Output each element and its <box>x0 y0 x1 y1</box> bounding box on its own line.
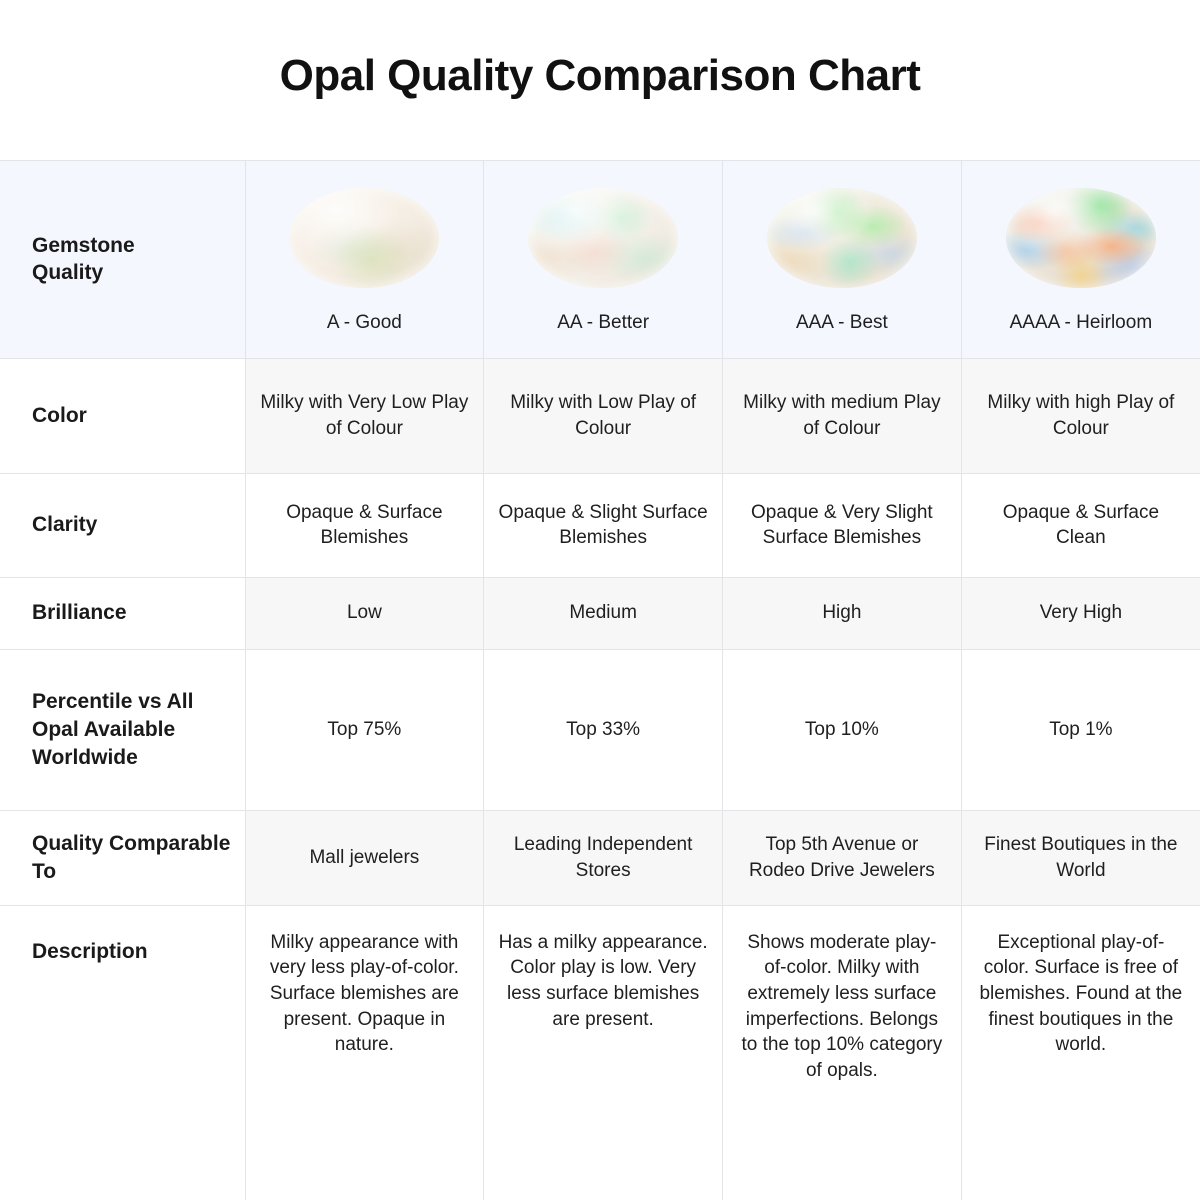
grade-label-a: A - Good <box>327 310 402 336</box>
cell-clarity-a: Opaque & Surface Blemishes <box>245 473 484 577</box>
row-label-color: Color <box>0 358 245 473</box>
cell-quality-comparable-aaaa: Finest Boutiques in the World <box>961 810 1200 905</box>
header-cell-aaaa: AAAA - Heirloom <box>961 160 1200 358</box>
header-label-line-1: Gemstone <box>32 234 135 257</box>
cell-brilliance-aaaa: Very High <box>961 577 1200 649</box>
cell-brilliance-a: Low <box>245 577 484 649</box>
row-label-percentile-text: Percentile vs All Opal Available Worldwi… <box>32 690 193 768</box>
cell-clarity-aa: Opaque & Slight Surface Blemishes <box>484 473 723 577</box>
page-title: Opal Quality Comparison Chart <box>0 0 1200 103</box>
cell-description-aaa: Shows moderate play-of-color. Milky with… <box>723 905 962 1200</box>
grade-label-aa: AA - Better <box>557 310 649 336</box>
cell-clarity-aaaa: Opaque & Surface Clean <box>961 473 1200 577</box>
opal-quality-comparison-table: Gemstone Quality A - Good AA - Better <box>0 160 1200 1200</box>
table-header-row: Gemstone Quality A - Good AA - Better <box>0 160 1200 358</box>
header-label-gemstone-quality: Gemstone Quality <box>0 160 245 358</box>
table-row-brilliance: Brilliance Low Medium High Very High <box>0 577 1200 649</box>
cell-percentile-aa: Top 33% <box>484 649 723 810</box>
table-row-description: Description Milky appearance with very l… <box>0 905 1200 1200</box>
grade-label-aaaa: AAAA - Heirloom <box>1010 310 1153 336</box>
table-row-quality-comparable: Quality Comparable To Mall jewelers Lead… <box>0 810 1200 905</box>
table-row-percentile: Percentile vs All Opal Available Worldwi… <box>0 649 1200 810</box>
row-label-brilliance: Brilliance <box>0 577 245 649</box>
cell-color-a: Milky with Very Low Play of Colour <box>245 358 484 473</box>
cell-percentile-a: Top 75% <box>245 649 484 810</box>
table-row-clarity: Clarity Opaque & Surface Blemishes Opaqu… <box>0 473 1200 577</box>
table-row-color: Color Milky with Very Low Play of Colour… <box>0 358 1200 473</box>
opal-gem-aaaa-icon <box>1006 188 1156 288</box>
cell-percentile-aaaa: Top 1% <box>961 649 1200 810</box>
row-label-clarity: Clarity <box>0 473 245 577</box>
row-label-percentile: Percentile vs All Opal Available Worldwi… <box>0 649 245 810</box>
opal-gem-aa-icon <box>528 188 678 288</box>
header-label-line-2: Quality <box>32 261 103 284</box>
header-cell-aa: AA - Better <box>484 160 723 358</box>
cell-description-aaaa: Exceptional play-of-color. Surface is fr… <box>961 905 1200 1200</box>
cell-brilliance-aa: Medium <box>484 577 723 649</box>
cell-color-aaaa: Milky with high Play of Colour <box>961 358 1200 473</box>
opal-gem-aaa-icon <box>767 188 917 288</box>
cell-clarity-aaa: Opaque & Very Slight Surface Blemishes <box>723 473 962 577</box>
opal-gem-a-icon <box>289 188 439 288</box>
header-cell-a: A - Good <box>245 160 484 358</box>
cell-color-aaa: Milky with medium Play of Colour <box>723 358 962 473</box>
cell-color-aa: Milky with Low Play of Colour <box>484 358 723 473</box>
cell-brilliance-aaa: High <box>723 577 962 649</box>
opal-comparison-page: Opal Quality Comparison Chart Gemstone Q… <box>0 0 1200 1200</box>
cell-quality-comparable-a: Mall jewelers <box>245 810 484 905</box>
header-cell-aaa: AAA - Best <box>723 160 962 358</box>
row-label-description: Description <box>0 905 245 1200</box>
cell-quality-comparable-aaa: Top 5th Avenue or Rodeo Drive Jewelers <box>723 810 962 905</box>
cell-quality-comparable-aa: Leading Independent Stores <box>484 810 723 905</box>
grade-label-aaa: AAA - Best <box>796 310 888 336</box>
cell-description-a: Milky appearance with very less play-of-… <box>245 905 484 1200</box>
cell-description-aa: Has a milky appearance. Color play is lo… <box>484 905 723 1200</box>
cell-percentile-aaa: Top 10% <box>723 649 962 810</box>
row-label-quality-comparable: Quality Comparable To <box>0 810 245 905</box>
